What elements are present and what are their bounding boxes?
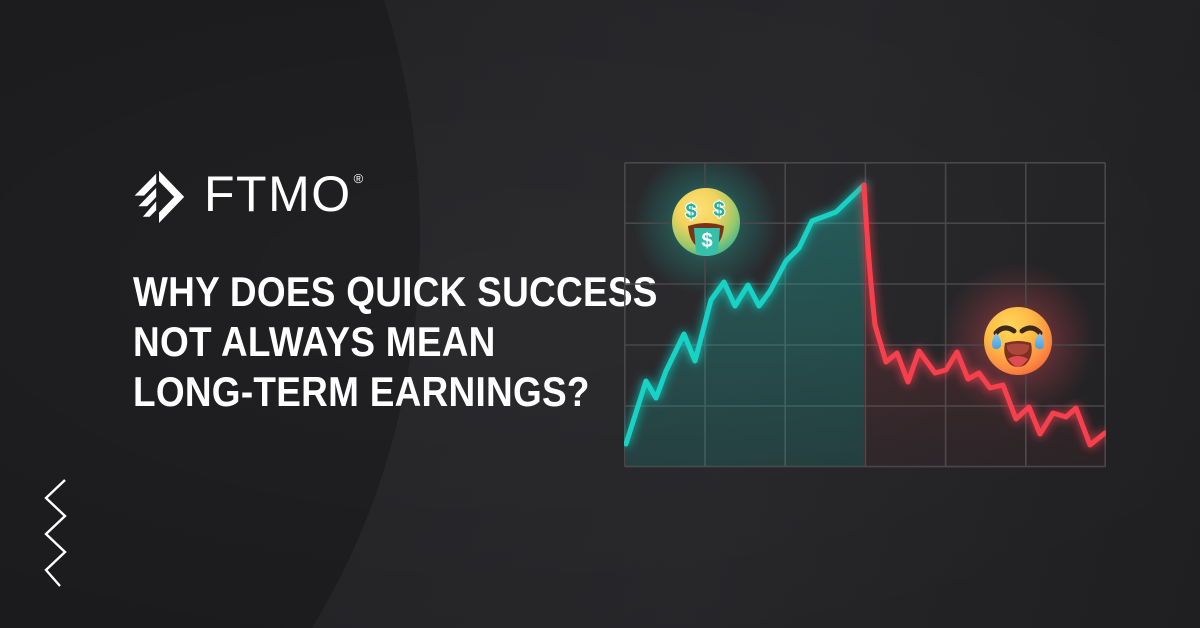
ftmo-diamond-logo-icon xyxy=(133,170,187,224)
page-title-line-3: LONG-TERM EARNINGS? xyxy=(133,367,547,417)
poster-canvas: FTMO ® WHY DOES QUICK SUCCESS NOT ALWAYS… xyxy=(0,0,1200,628)
left-content-column: FTMO ® WHY DOES QUICK SUCCESS NOT ALWAYS… xyxy=(133,168,603,417)
page-title: WHY DOES QUICK SUCCESS NOT ALWAYS MEAN L… xyxy=(133,267,547,417)
page-title-line-2: NOT ALWAYS MEAN xyxy=(133,317,547,367)
brand-lockup: FTMO ® xyxy=(133,168,603,226)
ftmo-wordmark: FTMO ® xyxy=(204,168,363,220)
ftmo-wordmark-text: FTMO xyxy=(204,168,352,220)
trading-chart: $ $ $ xyxy=(624,162,1106,468)
chart-plot-area xyxy=(624,162,1106,468)
page-title-line-1: WHY DOES QUICK SUCCESS xyxy=(133,267,547,317)
registered-trademark-icon: ® xyxy=(354,172,364,185)
zigzag-line-icon xyxy=(40,478,74,588)
